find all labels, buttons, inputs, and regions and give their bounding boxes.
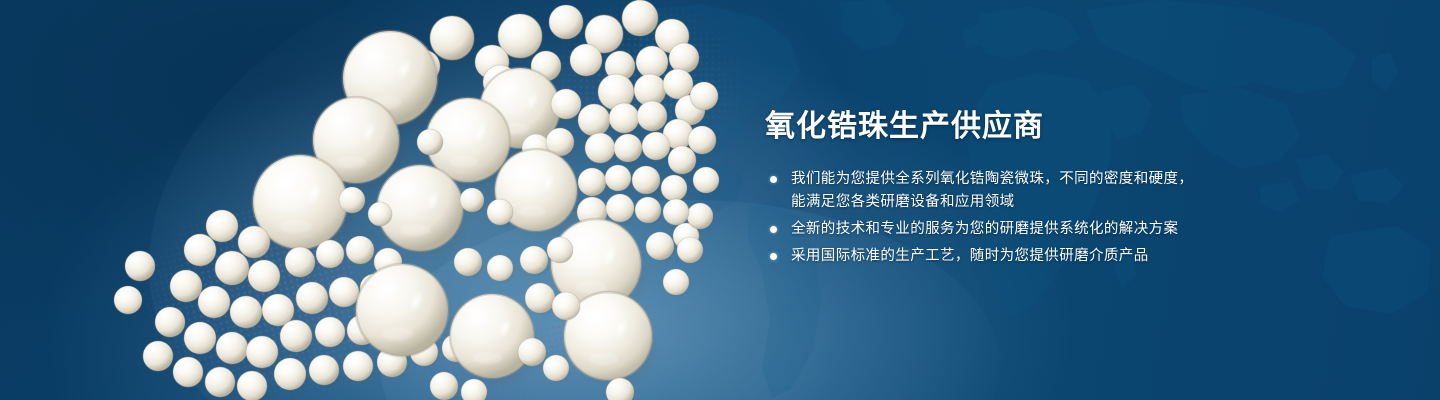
- ceramic-bead: [525, 283, 555, 313]
- ceramic-bead: [346, 236, 374, 264]
- ceramic-bead: [230, 296, 262, 328]
- bead-shadow: [219, 337, 252, 368]
- ceramic-bead: [635, 197, 661, 223]
- bead-shadow: [384, 180, 472, 263]
- bead-shadow: [625, 6, 662, 41]
- bead-shadow: [187, 327, 220, 358]
- feature-bullet: 采用国际标准的生产工艺，随时为您提供研磨介质产品: [765, 245, 1365, 268]
- ceramic-bead: [605, 51, 635, 81]
- bead-shadow: [648, 237, 677, 264]
- ceramic-bead: [606, 194, 634, 222]
- ceramic-bead: [552, 292, 580, 320]
- ceramic-bead: [343, 31, 437, 125]
- bead-shadow: [601, 80, 638, 115]
- ceramic-bead: [551, 89, 581, 119]
- bead-shadow: [690, 131, 719, 158]
- ceramic-bead: [408, 50, 440, 82]
- bead-shadow: [433, 112, 519, 193]
- bead-shadow: [616, 139, 645, 166]
- bead-shadow: [419, 133, 446, 158]
- ceramic-bead: [687, 203, 713, 229]
- bead-shadow: [345, 356, 376, 385]
- bead-shadow: [201, 291, 234, 322]
- bead-shadow: [265, 299, 298, 330]
- ceramic-bead: [274, 358, 306, 390]
- bead-shadow: [145, 346, 176, 375]
- ceramic-bead: [495, 149, 577, 231]
- bead-shadow: [432, 377, 461, 400]
- bead-shadow: [379, 352, 410, 381]
- ceramic-bead: [605, 165, 631, 191]
- ceramic-bead: [483, 65, 517, 99]
- bead-shadow: [558, 234, 650, 320]
- ceramic-bead: [520, 246, 548, 274]
- ceramic-bead: [606, 378, 634, 400]
- ceramic-bead: [690, 82, 718, 110]
- ceramic-bead: [673, 223, 699, 249]
- ceramic-bead: [546, 128, 574, 156]
- ceramic-bead: [125, 251, 155, 281]
- bead-shadow: [241, 231, 274, 262]
- bead-shadow: [331, 282, 362, 311]
- ceramic-bead: [430, 16, 474, 60]
- bead-shadow: [552, 11, 587, 44]
- bead-shadow: [317, 322, 348, 351]
- ceramic-bead: [642, 132, 670, 160]
- bead-shadow: [249, 341, 282, 372]
- bead-shadow: [411, 55, 444, 86]
- bead-shadow: [261, 171, 357, 261]
- ceramic-bead: [522, 134, 550, 162]
- ceramic-bead: [410, 338, 438, 366]
- ceramic-bead: [374, 248, 402, 276]
- ceramic-bead: [248, 260, 280, 292]
- ceramic-bead: [487, 199, 513, 225]
- bead-shadow: [283, 325, 316, 356]
- ceramic-bead: [450, 294, 534, 378]
- bead-shadow: [175, 362, 206, 391]
- ceramic-bead: [637, 101, 667, 131]
- ceramic-bead: [578, 104, 610, 136]
- bead-shadow: [486, 82, 568, 159]
- bead-shadow: [207, 372, 238, 400]
- ceramic-bead: [356, 264, 448, 356]
- ceramic-bead: [377, 165, 463, 251]
- bead-shadow: [370, 206, 394, 229]
- ceramic-bead: [669, 43, 699, 73]
- ceramic-bead: [585, 15, 623, 53]
- bead-shadow: [502, 21, 547, 63]
- bead-shadow: [607, 169, 634, 194]
- bead-shadow: [670, 151, 699, 178]
- ceramic-bead: [675, 95, 705, 125]
- bead-shadow: [692, 87, 721, 114]
- bead-shadow: [311, 360, 342, 389]
- bead-shadow: [527, 288, 558, 317]
- ceramic-bead: [636, 46, 668, 78]
- bead-shadow: [412, 343, 441, 370]
- ceramic-bead: [551, 219, 641, 309]
- ceramic-bead: [564, 292, 652, 380]
- feature-bullet: 我们能为您提供全系列氧化锆陶瓷微珠，不同的密度和硬度，能满足您各类研磨设备和应用…: [765, 168, 1365, 214]
- bead-shadow: [549, 241, 576, 266]
- banner-text-block: 氧化锆珠生产供应商 我们能为您提供全系列氧化锆陶瓷微珠，不同的密度和硬度，能满足…: [765, 108, 1365, 272]
- ceramic-bead: [316, 240, 344, 268]
- ceramic-bead: [313, 97, 399, 183]
- bead-shadow: [524, 139, 553, 166]
- ceramic-bead: [663, 269, 689, 295]
- feature-bullet-list: 我们能为您提供全系列氧化锆陶瓷微珠，不同的密度和硬度，能满足您各类研磨设备和应用…: [765, 168, 1365, 268]
- ceramic-bead: [377, 347, 407, 377]
- bead-shadow: [363, 280, 457, 368]
- ceramic-bead: [426, 98, 510, 182]
- ceramic-bead: [461, 379, 487, 400]
- ceramic-bead: [622, 0, 658, 36]
- ceramic-bead: [663, 199, 689, 225]
- ceramic-bead: [688, 126, 716, 154]
- bead-shadow: [434, 23, 479, 65]
- bead-shadow: [639, 106, 670, 135]
- bead-shadow: [554, 297, 583, 324]
- ceramic-bead: [661, 175, 687, 201]
- halftone-texture-top: [560, 0, 740, 120]
- bead-shadow: [665, 124, 696, 153]
- bead-shadow: [320, 112, 408, 195]
- ceramic-bead: [430, 372, 458, 400]
- bead-shadow: [457, 308, 543, 389]
- bullet-dot-icon: [770, 226, 777, 233]
- ceramic-bead: [474, 330, 502, 358]
- bead-shadow: [462, 192, 486, 215]
- bead-shadow: [634, 171, 663, 198]
- ceramic-bead: [347, 315, 377, 345]
- bead-shadow: [444, 339, 473, 366]
- bead-shadow: [658, 25, 693, 58]
- bead-shadow: [545, 359, 572, 384]
- ceramic-bead: [598, 74, 634, 110]
- ceramic-bead: [238, 226, 270, 258]
- ceramic-bead: [454, 248, 482, 276]
- bead-shadow: [349, 320, 380, 349]
- ceramic-bead: [309, 355, 339, 385]
- ceramic-bead: [549, 5, 583, 39]
- ceramic-bead: [646, 232, 674, 260]
- ceramic-bead: [253, 155, 347, 249]
- feature-bullet-line: 能满足您各类研磨设备和应用领域: [791, 191, 1365, 214]
- bead-shadow: [579, 202, 610, 231]
- bead-shadow: [608, 383, 637, 400]
- ceramic-bead: [668, 146, 696, 174]
- ceramic-bead: [585, 133, 615, 163]
- bead-shadow: [209, 215, 242, 246]
- ceramic-bead: [215, 251, 249, 285]
- feature-bullet-line: 我们能为您提供全系列氧化锆陶瓷微珠，不同的密度和硬度，: [791, 168, 1365, 191]
- bead-shadow: [348, 241, 377, 268]
- ceramic-bead: [143, 341, 173, 371]
- bead-shadow: [671, 48, 702, 77]
- ceramic-bead: [475, 45, 509, 79]
- hero-banner: 氧化锆珠生产供应商 我们能为您提供全系列氧化锆陶瓷微珠，不同的密度和硬度，能满足…: [0, 0, 1440, 400]
- bead-shadow: [522, 251, 551, 278]
- ceramic-bead: [634, 74, 666, 106]
- ceramic-bead: [184, 322, 216, 354]
- bead-shadow: [637, 201, 664, 226]
- ceramic-bead: [570, 44, 602, 76]
- ceramic-bead: [487, 255, 513, 281]
- ceramic-bead: [460, 188, 484, 212]
- ceramic-bead: [609, 103, 639, 133]
- bead-shadow: [665, 74, 696, 103]
- bead-shadow: [233, 301, 266, 332]
- bead-shadow: [588, 21, 627, 57]
- bead-shadow: [127, 256, 158, 285]
- bead-shadow: [573, 49, 606, 80]
- page-title: 氧化锆珠生产供应商: [765, 108, 1365, 146]
- ceramic-bead: [114, 286, 142, 314]
- bead-shadow: [639, 51, 672, 82]
- bead-shadow: [187, 239, 220, 270]
- ceramic-bead: [663, 119, 693, 149]
- bead-shadow: [392, 281, 421, 308]
- bead-shadow: [675, 227, 702, 252]
- bead-shadow: [251, 265, 284, 296]
- ceramic-bead: [547, 237, 573, 263]
- bead-shadow: [351, 47, 447, 137]
- bead-shadow: [318, 245, 347, 272]
- ceramic-bead: [184, 234, 216, 266]
- ceramic-bead: [315, 317, 345, 347]
- ceramic-bead: [663, 69, 693, 99]
- bead-shadow: [157, 312, 188, 341]
- ceramic-bead: [216, 332, 248, 364]
- bead-shadow: [299, 287, 332, 318]
- feature-bullet-line: 全新的技术和专业的服务为您的研磨提供系统化的解决方案: [791, 218, 1365, 241]
- bead-shadow: [679, 241, 706, 266]
- halftone-texture-right: [421, 285, 739, 400]
- ceramic-bead: [339, 187, 365, 213]
- ceramic-bead: [329, 277, 359, 307]
- ceramic-bead: [655, 19, 689, 53]
- bead-shadow: [533, 56, 564, 85]
- bead-shadow: [218, 257, 253, 290]
- ceramic-bead: [155, 307, 185, 337]
- bead-shadow: [571, 307, 661, 391]
- bead-shadow: [689, 207, 716, 232]
- ceramic-bead: [280, 320, 312, 352]
- bead-shadow: [486, 71, 521, 104]
- ceramic-bead: [531, 51, 561, 81]
- ceramic-bead: [693, 167, 719, 193]
- bead-shadow: [116, 291, 145, 318]
- bead-shadow: [553, 94, 584, 123]
- bullet-dot-icon: [770, 176, 777, 183]
- bead-shadow: [489, 203, 516, 228]
- ceramic-bead: [368, 202, 392, 226]
- bead-shadow: [502, 163, 586, 242]
- ceramic-bead: [577, 197, 607, 227]
- ceramic-bead: [480, 68, 560, 148]
- ceramic-bead: [237, 371, 267, 400]
- bead-shadow: [548, 133, 577, 160]
- ceramic-bead: [632, 166, 660, 194]
- bead-shadow: [663, 179, 690, 204]
- bead-shadow: [456, 253, 485, 280]
- ceramic-bead: [296, 282, 328, 314]
- bead-shadow: [277, 363, 310, 394]
- bead-shadow: [376, 253, 405, 280]
- ceramic-bead: [390, 276, 418, 304]
- feature-bullet-line: 采用国际标准的生产工艺，随时为您提供研磨介质产品: [791, 245, 1365, 268]
- bead-shadow: [173, 275, 206, 306]
- ceramic-bead: [198, 286, 230, 318]
- bead-shadow: [695, 171, 722, 196]
- ceramic-bead: [170, 270, 202, 302]
- bead-shadow: [239, 376, 270, 400]
- ceramic-bead: [518, 338, 546, 366]
- bead-shadow: [644, 137, 673, 164]
- bead-shadow: [611, 108, 642, 137]
- bead-shadow: [607, 56, 638, 85]
- ceramic-bead: [285, 247, 315, 277]
- ceramic-bead: [343, 351, 373, 381]
- bead-shadow: [341, 191, 368, 216]
- bead-shadow: [637, 79, 670, 110]
- ceramic-bead: [173, 357, 203, 387]
- bullet-dot-icon: [770, 253, 777, 260]
- feature-bullet: 全新的技术和专业的服务为您的研磨提供系统化的解决方案: [765, 218, 1365, 241]
- bead-shadow: [520, 343, 549, 370]
- ceramic-bead: [442, 334, 470, 362]
- bead-shadow: [362, 279, 391, 306]
- bead-shadow: [287, 252, 318, 281]
- ceramic-bead: [578, 168, 606, 196]
- bead-shadow: [489, 259, 516, 284]
- bead-shadow: [476, 335, 505, 362]
- bead-shadow: [463, 383, 490, 400]
- bead-shadow: [580, 173, 609, 200]
- ceramic-bead: [360, 274, 388, 302]
- ceramic-bead: [543, 355, 569, 381]
- bead-shadow: [587, 138, 618, 167]
- halftone-texture-left: [129, 188, 381, 400]
- bead-shadow: [581, 109, 614, 140]
- ceramic-bead: [417, 129, 443, 155]
- ceramic-bead: [677, 237, 703, 263]
- ceramic-bead: [205, 367, 235, 397]
- ceramic-bead: [246, 336, 278, 368]
- ceramic-bead: [206, 210, 238, 242]
- bead-shadow: [677, 100, 708, 129]
- ceramic-bead: [262, 294, 294, 326]
- bead-shadow: [665, 273, 692, 298]
- ceramic-bead: [498, 14, 542, 58]
- bead-shadow: [478, 51, 513, 84]
- bead-shadow: [608, 199, 637, 226]
- bead-shadow: [665, 203, 692, 228]
- ceramic-bead: [614, 134, 642, 162]
